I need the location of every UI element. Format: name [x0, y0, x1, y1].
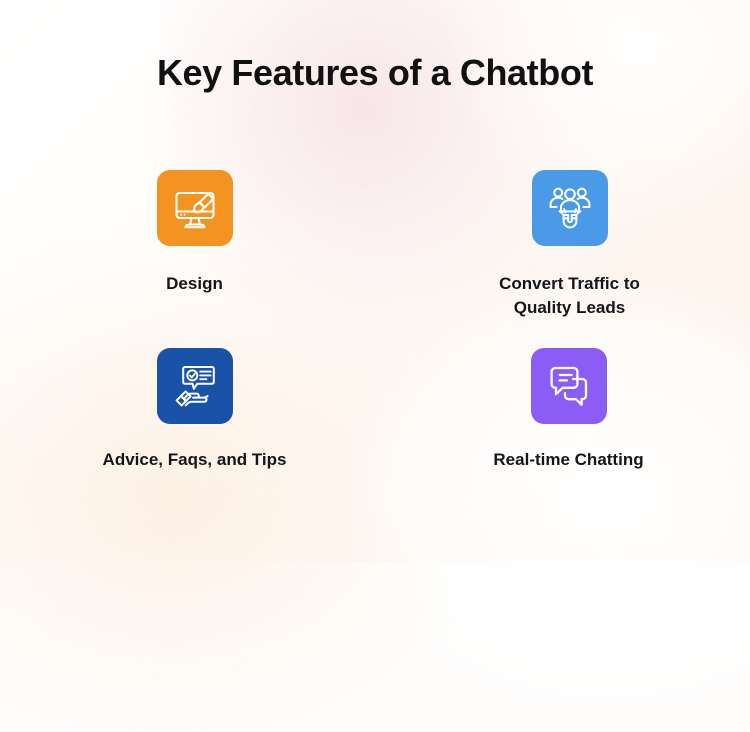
page-title: Key Features of a Chatbot [0, 52, 750, 94]
feature-item-design[interactable]: Design [0, 170, 375, 320]
feature-icon-tile-convert-traffic[interactable] [532, 170, 608, 246]
feature-label-convert-traffic: Convert Traffic to Quality Leads [499, 272, 640, 320]
features-row: Design [0, 170, 750, 320]
hand-speech-bubble-check-icon [169, 360, 221, 412]
feature-icon-tile-design[interactable] [157, 170, 233, 246]
feature-label-design: Design [166, 272, 223, 296]
features-row: Advice, Faqs, and Tips [0, 348, 750, 472]
feature-icon-tile-real-time-chatting[interactable] [531, 348, 607, 424]
feature-label-real-time-chatting: Real-time Chatting [493, 448, 643, 472]
chat-bubbles-icon [543, 360, 595, 412]
people-magnet-icon [544, 182, 596, 234]
feature-item-real-time-chatting[interactable]: Real-time Chatting [375, 348, 750, 472]
features-grid: Design [0, 170, 750, 472]
feature-item-convert-traffic[interactable]: Convert Traffic to Quality Leads [375, 170, 750, 320]
feature-item-advice-faqs-tips[interactable]: Advice, Faqs, and Tips [0, 348, 375, 472]
feature-icon-tile-advice-faqs-tips[interactable] [157, 348, 233, 424]
monitor-paintbrush-icon [169, 182, 221, 234]
slide-content: Key Features of a Chatbot [0, 0, 750, 562]
feature-label-advice-faqs-tips: Advice, Faqs, and Tips [103, 448, 287, 472]
